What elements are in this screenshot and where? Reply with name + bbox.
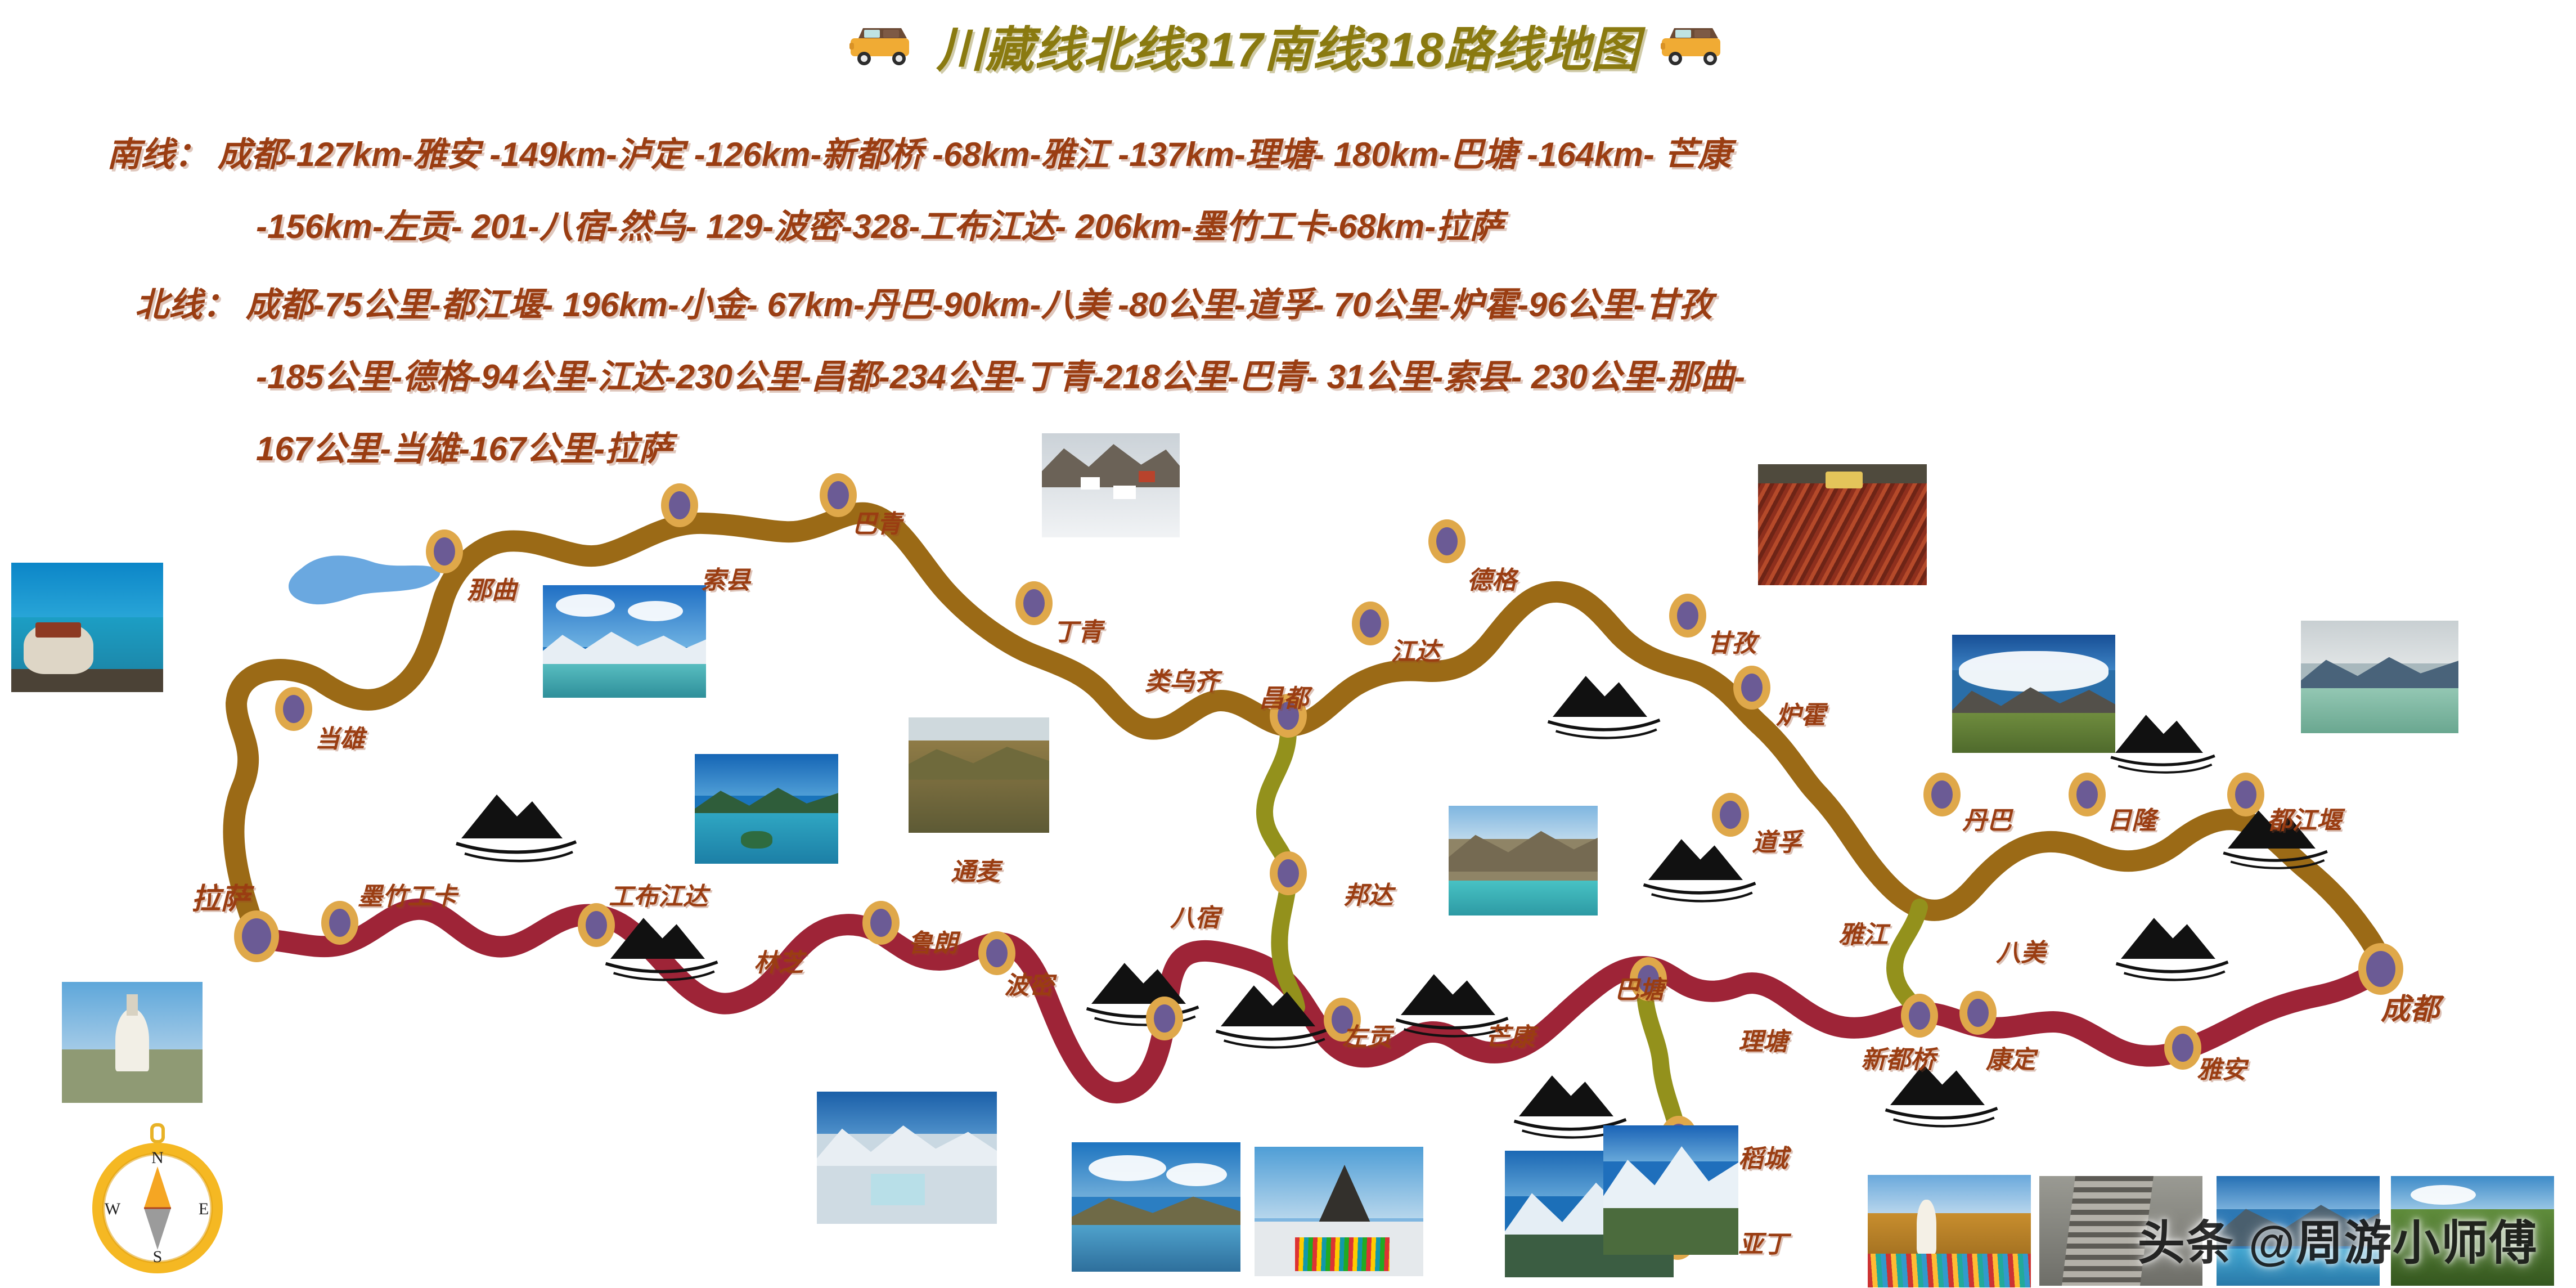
route-node[interactable] xyxy=(1428,519,1465,563)
route-node[interactable] xyxy=(1270,851,1307,895)
route-node[interactable] xyxy=(1352,602,1389,645)
city-label: 八美 xyxy=(1996,941,2045,966)
route-node[interactable] xyxy=(862,901,900,945)
city-label: 江达 xyxy=(1391,640,1440,665)
city-label: 雅江 xyxy=(1838,923,1888,948)
route-node[interactable] xyxy=(1669,594,1706,638)
city-label: 道孚 xyxy=(1752,831,1801,855)
compass-rose: N S W E xyxy=(79,1123,236,1280)
city-label: 稻城 xyxy=(1738,1147,1788,1172)
city-label: 芒康 xyxy=(1485,1025,1535,1050)
route-node[interactable] xyxy=(321,901,358,945)
city-label: 波密 xyxy=(1004,973,1054,998)
route-node[interactable] xyxy=(1015,581,1053,625)
photo-stupa-flags xyxy=(1868,1175,2031,1287)
city-label: 德格 xyxy=(1467,568,1517,593)
city-label: 八宿 xyxy=(1170,906,1220,931)
city-label: 类乌齐 xyxy=(1145,670,1219,694)
mountain-icon xyxy=(1644,839,1756,901)
route-node[interactable] xyxy=(2164,1026,2201,1070)
compass-south: S xyxy=(153,1247,163,1266)
mountain-icon xyxy=(2111,715,2215,772)
city-label: 丁青 xyxy=(1053,620,1103,645)
route-node[interactable] xyxy=(1733,666,1770,710)
city-label: 理塘 xyxy=(1738,1030,1788,1054)
city-label: 墨竹工卡 xyxy=(358,885,457,909)
route-node[interactable] xyxy=(1712,793,1749,837)
route-node[interactable] xyxy=(2069,773,2106,816)
photo-snow-peaks-namtso xyxy=(543,585,706,698)
city-label: 甘孜 xyxy=(1707,631,1756,656)
route-node[interactable] xyxy=(661,483,698,527)
city-label: 亚丁 xyxy=(1738,1232,1788,1257)
city-label: 索县 xyxy=(701,568,750,593)
photo-danba-clouds xyxy=(1952,635,2115,753)
photo-prayer-flags xyxy=(1255,1147,1423,1276)
photo-basum-lake xyxy=(695,754,838,864)
city-label: 那曲 xyxy=(467,578,516,603)
photo-glacier-lake xyxy=(1449,806,1598,915)
city-label: 昌都 xyxy=(1259,686,1309,711)
route-node[interactable] xyxy=(2358,943,2403,995)
city-label: 日隆 xyxy=(2107,809,2156,833)
photo-midui-glacier xyxy=(817,1092,997,1224)
city-label: 巴塘 xyxy=(1615,978,1664,1003)
south-route-318 xyxy=(257,909,2381,1093)
city-label: 康定 xyxy=(1986,1048,2035,1072)
route-node[interactable] xyxy=(1923,773,1961,816)
city-label: 雅安 xyxy=(2197,1058,2246,1083)
route-node[interactable] xyxy=(978,931,1015,975)
photo-grassland-valley xyxy=(909,717,1049,833)
route-node[interactable] xyxy=(1901,994,1938,1038)
photo-yading-peak xyxy=(1603,1125,1738,1255)
city-label: 当雄 xyxy=(315,727,365,752)
city-label: 左贡 xyxy=(1342,1025,1392,1050)
mountain-icon xyxy=(1548,676,1660,738)
photo-ranwu-lake xyxy=(1072,1142,1240,1272)
city-label: 都江堰 xyxy=(2267,809,2341,833)
watermark-text: 头条 @周游小师傅 xyxy=(2138,1205,2538,1273)
route-node[interactable] xyxy=(1146,997,1183,1040)
photo-potala-palace xyxy=(62,982,203,1103)
route-node[interactable] xyxy=(1959,991,1997,1035)
photo-dujiangyan xyxy=(2301,621,2458,733)
city-label: 炉霍 xyxy=(1776,703,1826,728)
city-label: 鲁朗 xyxy=(908,931,957,956)
route-map xyxy=(0,0,2576,1288)
mountain-icon xyxy=(456,795,576,861)
city-label: 新都桥 xyxy=(1861,1048,1935,1072)
city-label: 拉萨 xyxy=(191,885,250,914)
city-label: 巴青 xyxy=(852,512,902,537)
compass-east: E xyxy=(199,1200,209,1218)
route-node[interactable] xyxy=(426,529,463,573)
city-label: 丹巴 xyxy=(1962,809,2012,833)
route-node[interactable] xyxy=(2227,773,2264,816)
route-node[interactable] xyxy=(820,473,857,517)
city-label: 成都 xyxy=(2381,995,2439,1024)
photo-larung-gar xyxy=(1758,464,1927,585)
city-label: 林芝 xyxy=(754,951,803,976)
photo-snow-village xyxy=(1042,433,1180,537)
city-label: 邦达 xyxy=(1343,883,1393,908)
compass-west: W xyxy=(105,1200,121,1218)
photo-yak-lake xyxy=(11,563,163,692)
mountain-icon xyxy=(2116,918,2228,980)
compass-north: N xyxy=(151,1148,164,1167)
route-node[interactable] xyxy=(275,687,312,731)
route-node[interactable] xyxy=(234,910,279,962)
city-label: 通麦 xyxy=(951,860,1000,885)
city-label: 工布江达 xyxy=(609,885,708,909)
lake-namtso xyxy=(289,555,440,604)
